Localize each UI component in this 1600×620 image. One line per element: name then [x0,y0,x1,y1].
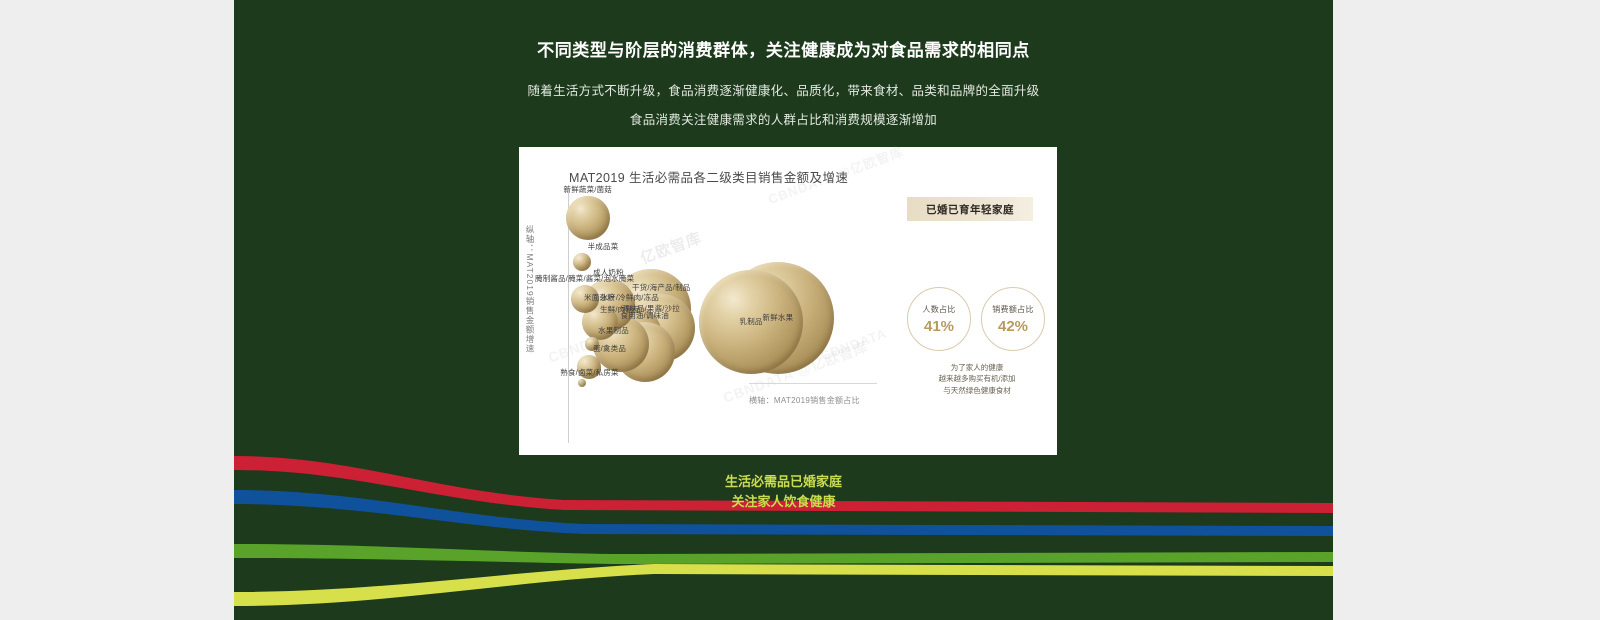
y-axis-label: 纵轴：MAT2019销售金额增速 [524,225,536,354]
bubble-label: 半成品菜 [566,242,640,251]
ribbon-yellow-shape [234,564,1333,606]
bubble-point [566,196,610,240]
bubble-label: 水产/冷鲜肉/冻品 [601,293,659,302]
segment-note-line: 与天然绿色健康食材 [897,385,1057,396]
segment-note-line: 为了家人的健康 [897,362,1057,373]
watermark: 亿欧智库 [637,227,704,269]
bubble-label: 蛋/禽类品 [573,344,647,353]
segment-banner-label: 已婚已育年轻家庭 [926,202,1014,217]
bubble-label: 新鲜蔬菜/菌菇 [564,185,612,194]
kpi-value: 42% [998,318,1028,335]
kpi-value: 41% [924,318,954,335]
footer-line-2: 关注家人饮食健康 [234,492,1333,512]
segment-note: 为了家人的健康 越来越多购买有机/添加 与天然绿色健康食材 [897,362,1057,396]
page-title: 不同类型与阶层的消费群体，关注健康成为对食品需求的相同点 [234,36,1333,61]
kpi-spend-share: 销费额占比 42% [981,287,1045,351]
bubble-label: 乳制品 [740,317,763,326]
bubble-point [573,253,591,271]
subtitle-line-1: 随着生活方式不断升级，食品消费逐渐健康化、品质化，带来食材、品类和品牌的全面升级 [234,80,1333,99]
x-axis-note: 横轴：MAT2019销售金额占比 [749,395,860,406]
footer-message: 生活必需品已婚家庭 关注家人饮食健康 [234,472,1333,512]
chart-card: CBNDATA @亿欧智库 CBNDATA @亿欧智库 CBNDATA 亿欧智库… [519,147,1057,455]
kpi-label: 人数占比 [922,304,955,315]
bubble-label: 水果制品 [577,326,651,335]
chart-title: MAT2019 生活必需品各二级类目销售金额及增速 [569,167,848,186]
kpi-people-share: 人数占比 41% [907,287,971,351]
bubble-label: 成人奶粉 [593,268,624,277]
bubble-label: 干货/海产品/制品 [632,283,690,292]
kpi-label: 销费额占比 [992,304,1034,315]
ribbon-green-shape [234,544,1333,564]
x-axis-rule [749,383,877,384]
bubble-label: 新鲜水果 [763,313,794,322]
slide-canvas: 不同类型与阶层的消费群体，关注健康成为对食品需求的相同点 随着生活方式不断升级，… [234,0,1333,620]
bubble-point [578,379,586,387]
bubble-label: 熟食/卤菜/私房菜 [553,368,627,377]
bubble-label: 调味品/果酱/沙拉 [622,304,680,313]
decorative-ribbons [234,440,1333,620]
subtitle-line-2: 食品消费关注健康需求的人群占比和消费规模逐渐增加 [234,109,1333,128]
segment-note-line: 越来越多购买有机/添加 [897,373,1057,384]
segment-banner: 已婚已育年轻家庭 [907,197,1033,221]
footer-line-1: 生活必需品已婚家庭 [234,472,1333,492]
